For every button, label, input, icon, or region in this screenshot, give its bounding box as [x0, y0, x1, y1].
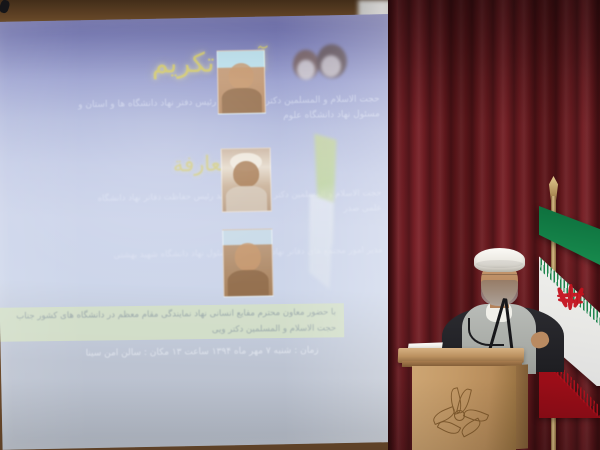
speaker-glasses-icon	[482, 274, 518, 280]
slide-subtitle: حجت الاسلام و المسلمین دکتر سعید عملی رئ…	[50, 92, 381, 129]
emblem-center	[454, 410, 465, 421]
portrait-head	[235, 243, 261, 271]
speaker-turban-wrap	[476, 260, 523, 268]
portrait-photo-3	[222, 228, 273, 297]
portrait-head	[228, 63, 253, 90]
leaders-portrait-image	[290, 41, 355, 86]
portrait-head	[233, 161, 259, 188]
lecture-hall-photo: آیین تکریم حجت الاسلام و المسلمین دکتر س…	[0, 0, 600, 450]
curtain-edge	[388, 0, 398, 450]
emblem-leaf	[459, 417, 484, 437]
projected-iran-flag-icon	[306, 133, 349, 294]
emblem-petal	[572, 287, 584, 308]
portrait-body	[226, 186, 268, 212]
portrait-body	[222, 88, 262, 114]
slide-highlight-text: با حضور معاون محترم مفایع انسانی نهاد نم…	[0, 304, 336, 340]
projected-flag-white	[308, 193, 336, 290]
iran-emblem-icon	[557, 284, 585, 310]
slide-time-place-line: زمان : شنبه ۷ مهر ماه ۱۳۹۴ ساعت ۱۳ مکان …	[1, 344, 319, 362]
podium-emblem-icon	[428, 388, 488, 444]
portrait-photo-2	[221, 147, 272, 212]
projection-screen: آیین تکریم حجت الاسلام و المسلمین دکتر س…	[0, 14, 405, 450]
speaker-beard	[481, 280, 518, 306]
slide-highlight-band: با حضور معاون محترم مفایع انسانی نهاد نم…	[0, 303, 344, 342]
portrait-photo-1	[217, 50, 266, 115]
portrait-body	[227, 269, 269, 296]
